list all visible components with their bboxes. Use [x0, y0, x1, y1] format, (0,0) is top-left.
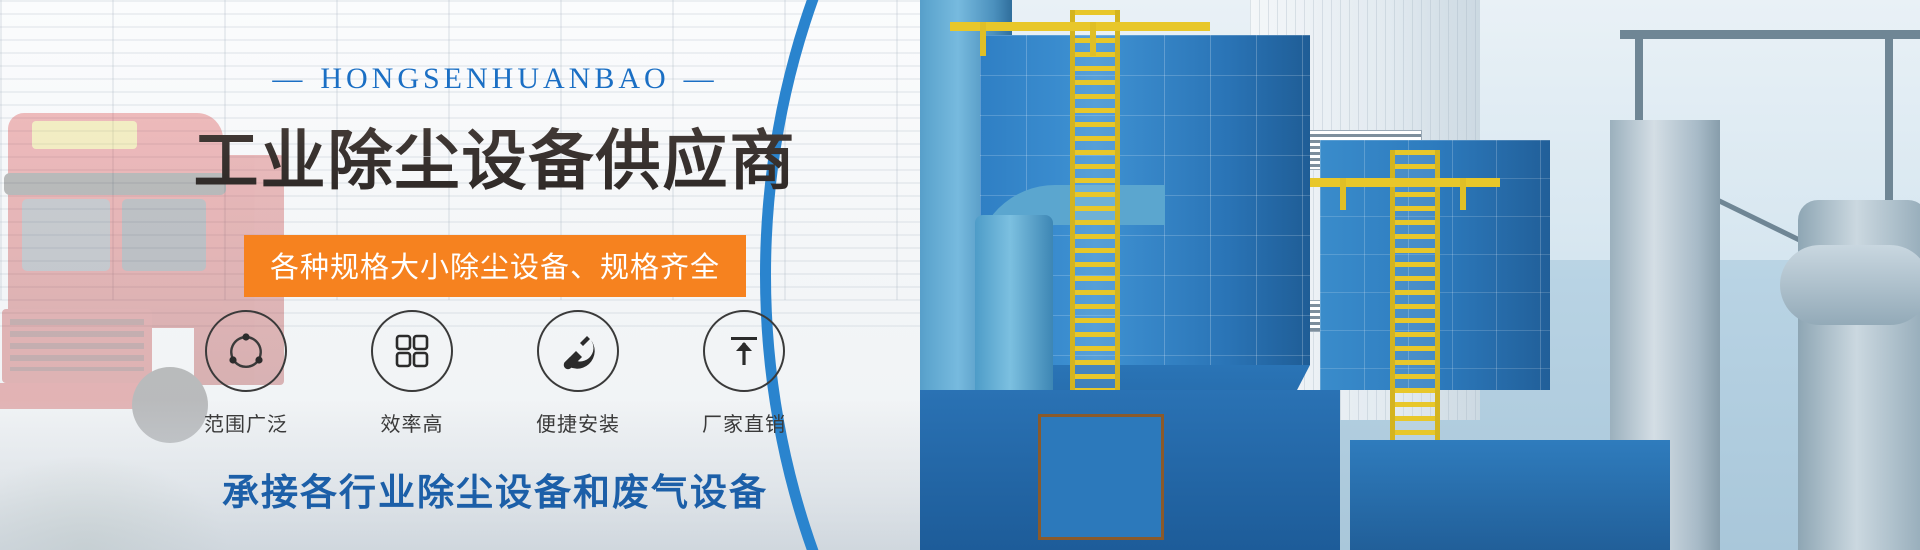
steel-truss [1620, 30, 1920, 39]
feature-item-range: 范围广泛 [196, 310, 296, 437]
eyebrow-dash-right: — [670, 62, 732, 96]
yellow-handrail [1310, 178, 1500, 187]
feature-label: 范围广泛 [196, 408, 296, 437]
hero-banner: —HONGSENHUANBAO— 工业除尘设备供应商 各种规格大小除尘设备、规格… [0, 0, 1920, 550]
eyebrow-dash-left: — [258, 62, 320, 96]
handrail-post [1340, 178, 1346, 210]
horizontal-drum-vessel [1780, 245, 1920, 325]
eyebrow-text: HONGSENHUANBAO [320, 62, 669, 95]
network-nodes-icon [224, 329, 268, 373]
arrow-up-bar-icon [723, 330, 765, 372]
feature-list: 范围广泛 效率高 [0, 310, 990, 437]
feature-icon-circle [371, 310, 453, 392]
feature-item-efficiency: 效率高 [362, 310, 462, 437]
feature-item-factory-direct: 厂家直销 [694, 310, 794, 437]
equipment-base-secondary [1350, 440, 1670, 550]
access-door [1038, 414, 1164, 540]
page-title: 工业除尘设备供应商 [0, 108, 990, 202]
handrail-post [1090, 22, 1096, 56]
banner-content: —HONGSENHUANBAO— 工业除尘设备供应商 各种规格大小除尘设备、规格… [0, 0, 990, 550]
feature-icon-circle [205, 310, 287, 392]
feature-label: 效率高 [362, 408, 462, 437]
feature-item-installation: 便捷安装 [528, 310, 628, 437]
orange-bar-wrap: 各种规格大小除尘设备、规格齐全 [0, 235, 990, 297]
industrial-dust-collector-photo [920, 0, 1920, 550]
feature-icon-circle [703, 310, 785, 392]
orange-subtitle-bar: 各种规格大小除尘设备、规格齐全 [244, 235, 746, 297]
feature-label: 厂家直销 [694, 408, 794, 437]
feature-icon-circle [537, 310, 619, 392]
brand-eyebrow: —HONGSENHUANBAO— [0, 62, 990, 96]
four-squares-grid-icon [391, 330, 433, 372]
wrench-spanner-icon [556, 329, 600, 373]
feature-label: 便捷安装 [528, 408, 628, 437]
banner-tagline: 承接各行业除尘设备和废气设备 [0, 462, 990, 516]
handrail-post [1460, 178, 1466, 210]
